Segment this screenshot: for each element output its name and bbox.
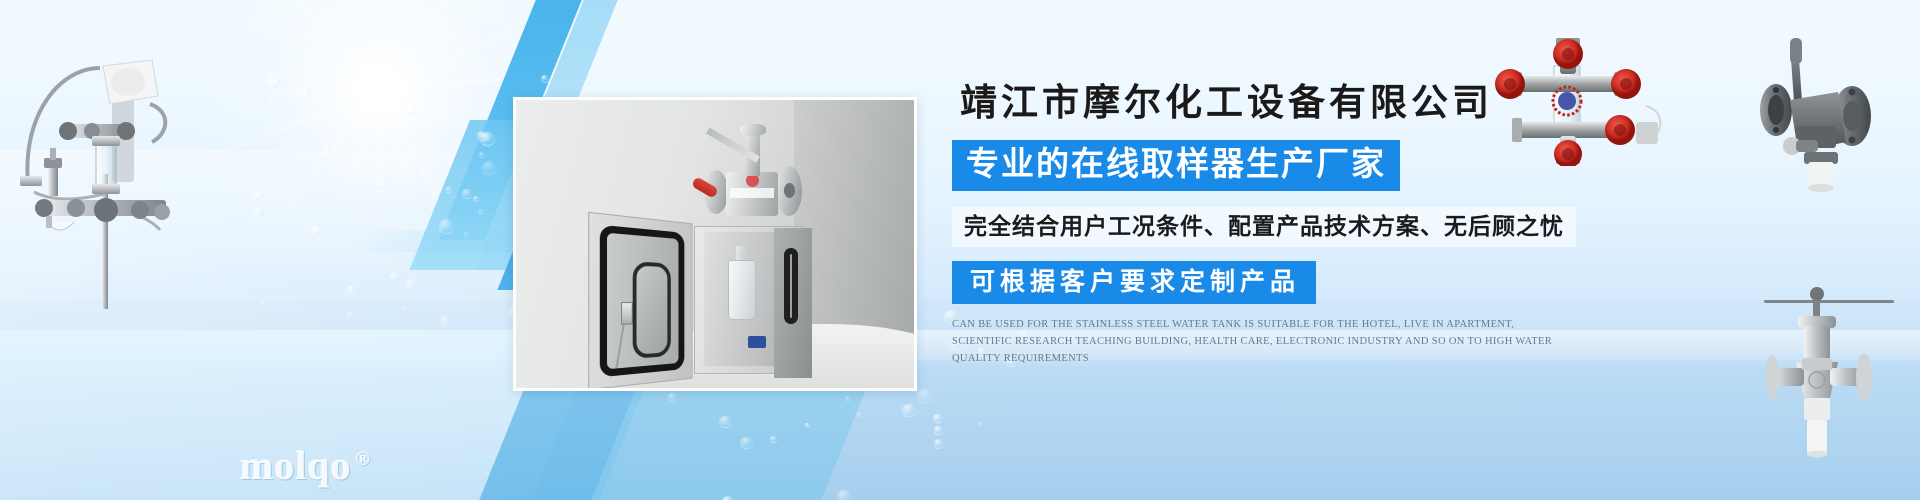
water-drop [857,412,861,416]
water-drop [266,78,280,90]
water-drop [473,196,479,201]
water-drop [261,300,265,303]
water-drop [440,316,452,326]
photo-door-lock [621,302,633,325]
water-drop [405,279,418,290]
subline-text: 完全结合用户工况条件、配置产品技术方案、无后顾之忧 [952,207,1576,247]
water-drop [310,226,323,237]
water-drop [414,125,421,131]
photo-door-gasket [600,225,685,378]
water-drop [297,86,312,99]
banner-text-block: 靖江市摩尔化工设备有限公司 专业的在线取样器生产厂家 完全结合用户工况条件、配置… [952,82,1692,367]
water-drop [917,389,933,403]
water-drop [805,423,809,427]
water-drop [252,208,263,218]
water-drop [389,272,400,281]
water-drop [253,190,264,200]
photo-blue-cap [748,336,766,348]
left-product-render [0,24,190,314]
flanged-needle-valve-icon [1760,280,1910,480]
water-drop [479,152,485,157]
red-handwheel-top [1553,39,1583,69]
water-drop [481,61,489,68]
water-drop [374,178,389,191]
photo-valve-label [730,188,774,198]
water-drop [933,414,942,422]
water-drop [402,306,406,310]
photo-door-key [615,325,624,368]
water-drop [269,97,275,102]
photo-cabinet-door [588,212,692,390]
water-drop [331,148,342,157]
water-drop [740,437,753,448]
water-drop [431,77,439,84]
flanged-lever-valve-icon [1752,30,1912,220]
photo-sampling-valve [698,126,808,230]
water-drop [837,490,852,500]
water-drop [979,422,982,425]
water-drop [347,286,356,294]
water-drop [722,496,734,500]
water-drop [482,161,498,174]
right-top-product [1752,30,1912,220]
main-product-photo [513,97,917,391]
water-drop [446,187,452,192]
water-drop [668,393,677,401]
registered-trademark-icon: ® [356,449,371,470]
water-drop [934,426,943,434]
water-drop [478,209,484,214]
company-name: 靖江市摩尔化工设备有限公司 [952,82,1692,126]
water-drop [347,311,354,317]
water-drops-right [250,60,550,320]
water-drop [770,436,777,442]
custom-product-highlight: 可根据客户要求定制产品 [952,261,1316,304]
photo-cabinet-handle [784,248,798,324]
water-drop [439,219,455,232]
logo-wordmark: molqo [240,443,352,488]
water-drop [464,232,468,236]
water-drop [934,439,944,447]
brand-logo: molqo® [240,442,371,489]
water-drop [462,189,472,197]
water-drop [322,145,332,153]
water-drop [473,65,477,69]
right-bottom-product [1760,280,1910,480]
water-drop [846,396,851,400]
water-drop [477,131,487,140]
water-drop [403,103,417,115]
english-description: CAN BE USED FOR THE STAINLESS STEEL WATE… [952,316,1572,367]
photo-valve-cap [740,124,766,136]
promotional-banner: 靖江市摩尔化工设备有限公司 专业的在线取样器生产厂家 完全结合用户工况条件、配置… [0,0,1920,500]
water-drop [719,416,732,427]
water-drop [541,75,549,82]
photo-sample-bottle [728,260,756,320]
tagline-highlight: 专业的在线取样器生产厂家 [952,140,1400,191]
photo-door-window [633,261,671,358]
photo-valve-flange-right [776,166,802,216]
water-drop [902,404,916,416]
sampling-valve-assembly-icon [0,24,190,314]
